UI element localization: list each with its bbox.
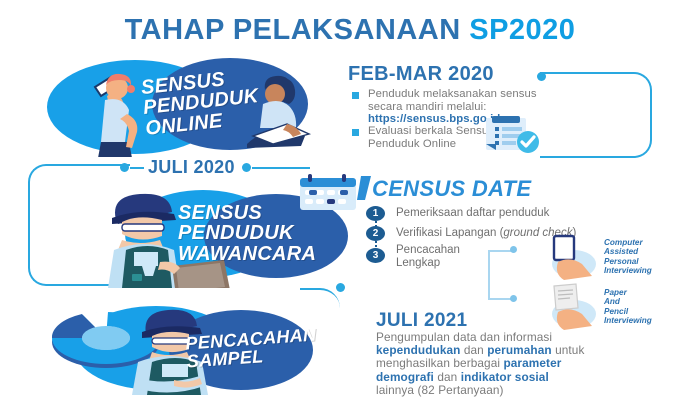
capi-label: Computer Assisted Personal Interviewing xyxy=(604,238,652,275)
section3-line-3: menghasilkan berbagai xyxy=(376,356,503,370)
section3-line-1: Pengumpulan data dan informasi xyxy=(376,330,552,344)
page-title-main: TAHAP PELAKSANAAN xyxy=(125,14,461,46)
section1-bullet-marker-1 xyxy=(352,92,359,99)
section3-kw-parameter: parameter xyxy=(503,356,561,370)
section1-bullet-marker-2 xyxy=(352,129,359,136)
section3-kw-indikator: indikator sosial xyxy=(461,370,549,384)
methods-connector-vertical xyxy=(488,250,490,300)
section1-bracket xyxy=(540,72,652,158)
section2-dot-left xyxy=(120,163,129,172)
infographic-root: TAHAP PELAKSANAAN SP2020 xyxy=(0,0,700,400)
step-text-3: Pencacahan Lengkap xyxy=(396,244,460,269)
census-date-accent-mark xyxy=(357,176,371,200)
section2-dot-right xyxy=(242,163,251,172)
section3-kw-kependudukan: kependudukan xyxy=(376,343,460,357)
step-badge-1: 1 xyxy=(366,206,385,221)
section1-bullet-text-1: Penduduk melaksanakan sensus secara mand… xyxy=(368,88,540,113)
section1-bullet-link-1[interactable]: https://sensus.bps.go.id xyxy=(368,113,500,126)
methods-dot-top xyxy=(510,246,517,253)
page-title-accent: SP2020 xyxy=(469,14,575,46)
page-title: TAHAP PELAKSANAAN SP2020 xyxy=(0,14,700,47)
section3-conj-1: dan xyxy=(460,343,487,357)
papi-label: Paper And Pencil Interviewing xyxy=(604,288,652,325)
section3-period: JULI 2021 xyxy=(376,310,467,332)
section2-line-right xyxy=(252,167,310,169)
section3-kw-demografi: demografi xyxy=(376,370,434,384)
section2-heading: CENSUS DATE xyxy=(372,176,531,202)
section3-conj-2: untuk xyxy=(552,343,585,357)
section3-kw-perumahan: perumahan xyxy=(487,343,552,357)
section1-dot xyxy=(537,72,546,81)
methods-dot-bottom xyxy=(510,295,517,302)
step-badge-3: 3 xyxy=(366,248,385,263)
section2-period: JULI 2020 xyxy=(148,157,235,178)
section3-paragraph: Pengumpulan data dan informasi kependudu… xyxy=(376,331,676,397)
section3-dot xyxy=(336,283,345,292)
calendar-icon xyxy=(296,172,360,216)
section3-conj-3: dan xyxy=(434,370,461,384)
tablet-in-hand-icon xyxy=(548,234,600,280)
sensus-online-wordart: SENSUS PENDUDUK ONLINE xyxy=(140,66,262,139)
section2-line-left xyxy=(130,167,144,169)
checklist-document-icon xyxy=(484,114,542,156)
section1-period: FEB-MAR 2020 xyxy=(348,63,494,86)
step-text-1: Pemeriksaan daftar penduduk xyxy=(396,207,549,220)
step-badge-2: 2 xyxy=(366,226,385,241)
paper-in-hand-icon xyxy=(548,282,600,330)
section3-line-5: lainnya (82 Pertanyaan) xyxy=(376,383,504,397)
